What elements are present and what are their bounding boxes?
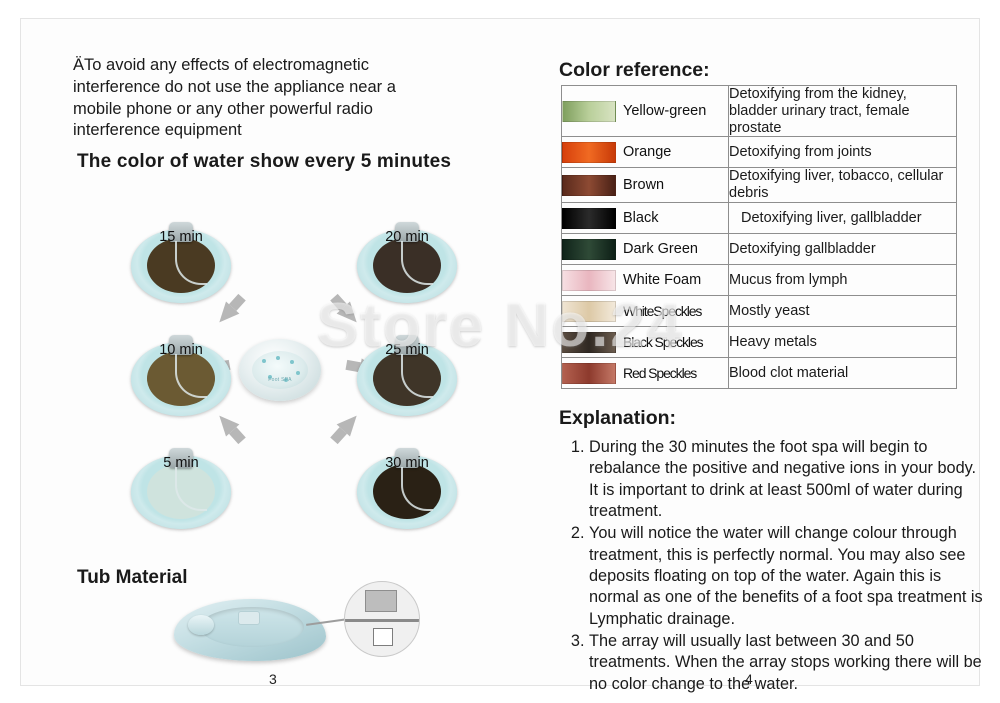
table-row: Red Speckles Blood clot material <box>562 358 957 389</box>
swatch-cell: Yellow-green <box>562 86 729 137</box>
color-name: White Foam <box>623 272 701 288</box>
color-name: Yellow-green <box>623 103 706 119</box>
color-description: Detoxifying gallbladder <box>729 234 957 265</box>
tub-material-heading: Tub Material <box>77 567 188 589</box>
color-name: Orange <box>623 144 671 160</box>
material-callout <box>344 581 422 663</box>
color-name: Red Speckles <box>623 365 696 381</box>
color-name: WhiteSpeckles <box>623 303 701 319</box>
color-name: Black <box>623 210 658 226</box>
table-row: White Foam Mucus from lymph <box>562 265 957 296</box>
warning-line-4: interference equipment <box>73 121 242 139</box>
warning-line-3: mobile phone or any other powerful radio <box>73 100 373 118</box>
explanation-heading: Explanation: <box>559 407 676 430</box>
color-swatch <box>562 332 616 353</box>
table-row: Brown Detoxifying liver, tobacco, cellul… <box>562 168 957 203</box>
color-description: Mucus from lymph <box>729 265 957 296</box>
tub-label-10min: 10 min <box>131 342 231 358</box>
table-row: Yellow-green Detoxifying from the kidney… <box>562 86 957 137</box>
hub-inner: Foot SPA <box>252 351 308 389</box>
swatch-cell: Black Speckles <box>562 327 729 358</box>
color-description: Detoxifying from joints <box>729 137 957 168</box>
tub-label-30min: 30 min <box>357 455 457 471</box>
list-item: You will notice the water will change co… <box>589 523 989 630</box>
table-row: Black Detoxifying liver, gallbladder <box>562 203 957 234</box>
color-swatch <box>562 301 616 322</box>
color-swatch <box>562 175 616 196</box>
right-column: Color reference: Yellow-green Detoxifyin… <box>533 29 963 677</box>
warning-line-2: interference do not use the appliance ne… <box>73 78 396 96</box>
left-column: ÄTo avoid any effects of electromagnetic… <box>39 29 519 677</box>
color-swatch <box>562 142 616 163</box>
page-number-right: 4 <box>745 671 753 687</box>
spa-illustration <box>174 591 334 669</box>
color-description: Heavy metals <box>729 327 957 358</box>
list-item: During the 30 minutes the foot spa will … <box>589 437 989 522</box>
page-number-left: 3 <box>269 671 277 687</box>
color-description: Detoxifying liver, gallbladder <box>729 203 957 234</box>
swatch-cell: White Foam <box>562 265 729 296</box>
arrow-to-15min <box>213 302 240 329</box>
tub-label-5min: 5 min <box>131 455 231 471</box>
table-row: Dark Green Detoxifying gallbladder <box>562 234 957 265</box>
warning-line-1: ÄTo avoid any effects of electromagnetic <box>73 55 433 77</box>
color-reference-table: Yellow-green Detoxifying from the kidney… <box>561 85 957 389</box>
warning-text: ÄTo avoid any effects of electromagnetic… <box>73 55 433 142</box>
color-swatch <box>562 239 616 260</box>
color-swatch <box>562 208 616 229</box>
table-row: Black Speckles Heavy metals <box>562 327 957 358</box>
swatch-cell: Black <box>562 203 729 234</box>
list-item: The array will usually last between 30 a… <box>589 631 989 695</box>
color-name: Brown <box>623 177 664 193</box>
swatch-cell: Brown <box>562 168 729 203</box>
water-color-heading: The color of water show every 5 minutes <box>77 151 451 173</box>
color-swatch <box>562 363 616 384</box>
color-name: Dark Green <box>623 241 698 257</box>
swatch-cell: Orange <box>562 137 729 168</box>
tub-label-20min: 20 min <box>357 229 457 245</box>
color-description: Detoxifying from the kidney, bladder uri… <box>729 86 957 137</box>
table-row: WhiteSpeckles Mostly yeast <box>562 296 957 327</box>
swatch-cell: Red Speckles <box>562 358 729 389</box>
table-row: Orange Detoxifying from joints <box>562 137 957 168</box>
color-description: Mostly yeast <box>729 296 957 327</box>
color-description: Blood clot material <box>729 358 957 389</box>
color-swatch <box>562 270 616 291</box>
color-swatch <box>562 101 616 122</box>
document-page: ÄTo avoid any effects of electromagnetic… <box>20 18 980 686</box>
hub-label: Foot SPA <box>252 377 308 383</box>
arrow-to-20min <box>337 302 364 329</box>
tub-label-15min: 15 min <box>131 229 231 245</box>
swatch-cell: Dark Green <box>562 234 729 265</box>
explanation-list: During the 30 minutes the foot spa will … <box>563 437 989 696</box>
foot-spa-hub: Foot SPA <box>239 339 321 401</box>
swatch-cell: WhiteSpeckles <box>562 296 729 327</box>
color-reference-heading: Color reference: <box>559 59 710 82</box>
color-description: Detoxifying liver, tobacco, cellular deb… <box>729 168 957 203</box>
water-color-diagram: Foot SPA 15 min 20 min <box>89 187 489 577</box>
tub-label-25min: 25 min <box>357 342 457 358</box>
color-name: Black Speckles <box>623 334 703 350</box>
